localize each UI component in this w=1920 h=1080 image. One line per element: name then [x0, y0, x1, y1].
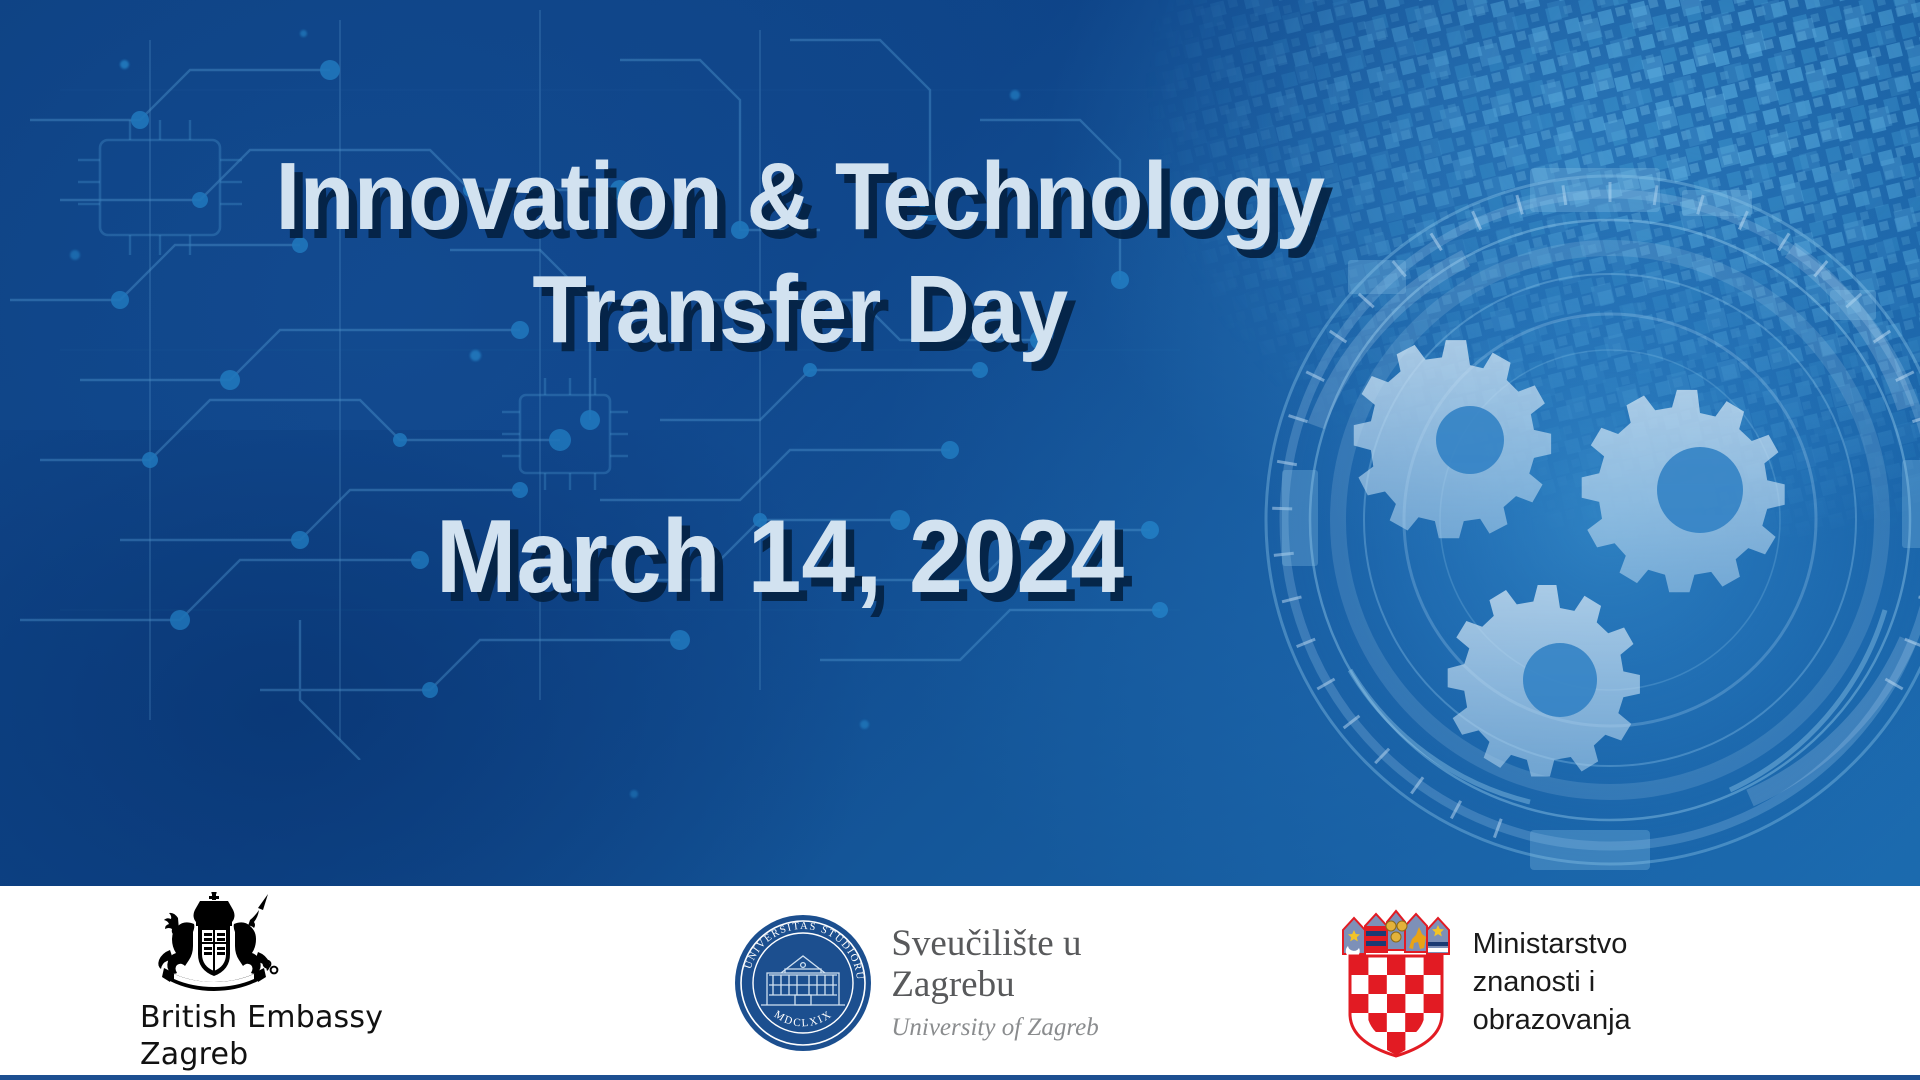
university-of-zagreb-lockup: UNIVERSITAS STUDIORUM ZAGRABIENSIS MDCLX…: [733, 913, 1098, 1053]
croatian-coat-of-arms-icon: [1337, 908, 1455, 1058]
glow-dot: [120, 60, 129, 69]
ministry-text: Ministarstvo znanosti i obrazovanja: [1473, 926, 1631, 1039]
british-embassy-text: British Embassy Zagreb: [140, 1000, 383, 1073]
british-embassy-line-2: Zagreb: [140, 1037, 383, 1074]
ministry-lockup: Ministarstvo znanosti i obrazovanja: [1337, 908, 1631, 1058]
footer-bottom-rule: [0, 1075, 1920, 1080]
glow-dot: [860, 720, 869, 729]
university-of-zagreb-seal-icon: UNIVERSITAS STUDIORUM ZAGRABIENSIS MDCLX…: [733, 913, 873, 1053]
university-of-zagreb-line-3: University of Zagreb: [891, 1014, 1098, 1042]
university-of-zagreb-text: Sveučilište u Zagrebu University of Zagr…: [891, 924, 1098, 1042]
logo-slot-ministry: Ministarstvo znanosti i obrazovanja: [1317, 886, 1920, 1080]
glow-dot: [630, 790, 638, 798]
logo-slot-university-of-zagreb: UNIVERSITAS STUDIORUM ZAGRABIENSIS MDCLX…: [723, 886, 1316, 1080]
ministry-line-3: obrazovanja: [1473, 1002, 1631, 1040]
event-banner: Innovation & Technology Transfer Day Mar…: [0, 0, 1920, 1080]
hero-background: Innovation & Technology Transfer Day Mar…: [0, 0, 1920, 886]
university-of-zagreb-line-1: Sveučilište u: [891, 924, 1098, 965]
ministry-line-1: Ministarstvo: [1473, 926, 1631, 964]
british-embassy-line-1: British Embassy: [140, 1000, 383, 1037]
logo-slot-british-embassy: British Embassy Zagreb: [0, 886, 723, 1080]
uk-royal-coat-of-arms-icon: [140, 892, 288, 996]
event-date: March 14, 2024: [0, 500, 1560, 614]
ministry-line-2: znanosti i: [1473, 964, 1631, 1002]
event-title: Innovation & Technology Transfer Day: [0, 140, 1600, 367]
glow-dot: [300, 30, 307, 37]
glow-dot: [1010, 90, 1020, 100]
event-title-line-1: Innovation & Technology: [56, 140, 1544, 253]
university-of-zagreb-line-2: Zagrebu: [891, 965, 1098, 1006]
partner-logo-footer: British Embassy Zagreb UNIV: [0, 886, 1920, 1080]
event-title-line-2: Transfer Day: [56, 253, 1544, 366]
event-date-text: March 14, 2024: [55, 500, 1506, 614]
british-embassy-lockup: British Embassy Zagreb: [140, 892, 383, 1073]
